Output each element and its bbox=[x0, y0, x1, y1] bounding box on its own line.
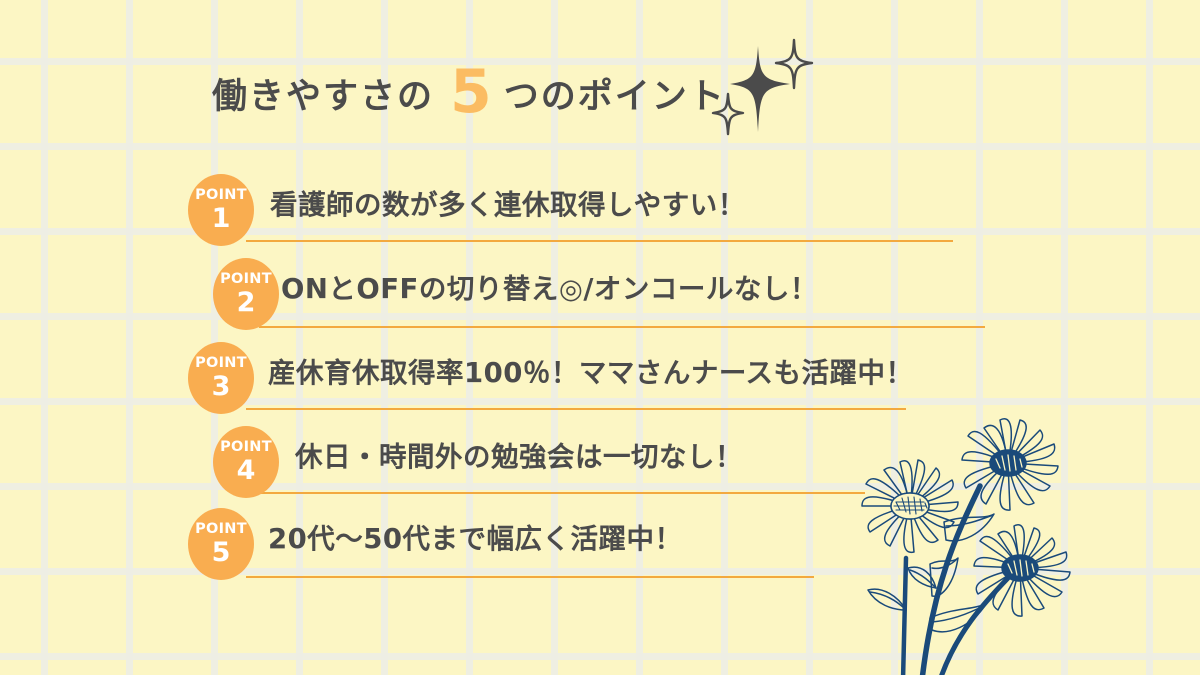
point-badge-number: 1 bbox=[212, 205, 231, 232]
point-badge-number: 4 bbox=[237, 457, 256, 484]
page-title: 働きやすさの 5 つのポイント bbox=[212, 58, 726, 118]
point-underline-1 bbox=[246, 240, 953, 242]
point-underline-3 bbox=[246, 408, 906, 410]
point-badge-label: POINT bbox=[195, 356, 247, 371]
point-badge-number: 5 bbox=[212, 539, 231, 566]
page-title-lead: 働きやすさの bbox=[212, 80, 434, 115]
daisy-flower-illustration bbox=[848, 418, 1098, 675]
list-item[interactable]: POINT 4 休日・時間外の勉強会は一切なし！ bbox=[213, 426, 863, 512]
point-badge-label: POINT bbox=[195, 522, 247, 537]
point-text-5: 20代〜50代まで幅広く活躍中！ bbox=[268, 522, 683, 558]
list-item[interactable]: POINT 3 産休育休取得率100％！ママさんナースも活躍中！ bbox=[188, 342, 928, 428]
point-badge-number: 3 bbox=[212, 373, 231, 400]
point-badge-1: POINT 1 bbox=[188, 174, 254, 246]
point-badge-3: POINT 3 bbox=[188, 342, 254, 414]
slide-canvas: 働きやすさの 5 つのポイント POINT 1 看護師の数が多く連休取得しやすい… bbox=[0, 0, 1200, 675]
point-badge-4: POINT 4 bbox=[213, 426, 279, 498]
page-title-number: 5 bbox=[450, 62, 492, 122]
point-text-4: 休日・時間外の勉強会は一切なし！ bbox=[295, 440, 743, 476]
point-badge-2: POINT 2 bbox=[213, 258, 279, 330]
point-badge-number: 2 bbox=[237, 289, 256, 316]
point-text-2: ONとOFFの切り替え◎/オンコールなし！ bbox=[281, 272, 818, 308]
point-underline-4 bbox=[259, 492, 865, 494]
point-badge-label: POINT bbox=[220, 440, 272, 455]
list-item[interactable]: POINT 2 ONとOFFの切り替え◎/オンコールなし！ bbox=[213, 258, 953, 344]
page-title-trail: つのポイント bbox=[504, 80, 726, 115]
point-badge-label: POINT bbox=[195, 188, 247, 203]
flower-icon bbox=[848, 418, 1098, 675]
point-badge-label: POINT bbox=[220, 272, 272, 287]
point-badge-5: POINT 5 bbox=[188, 508, 254, 580]
point-text-3: 産休育休取得率100％！ママさんナースも活躍中！ bbox=[268, 356, 914, 392]
list-item[interactable]: POINT 5 20代〜50代まで幅広く活躍中！ bbox=[188, 508, 828, 594]
point-underline-2 bbox=[259, 326, 985, 328]
point-text-1: 看護師の数が多く連休取得しやすい！ bbox=[270, 188, 746, 224]
list-item[interactable]: POINT 1 看護師の数が多く連休取得しやすい！ bbox=[188, 174, 778, 260]
point-underline-5 bbox=[246, 576, 814, 578]
